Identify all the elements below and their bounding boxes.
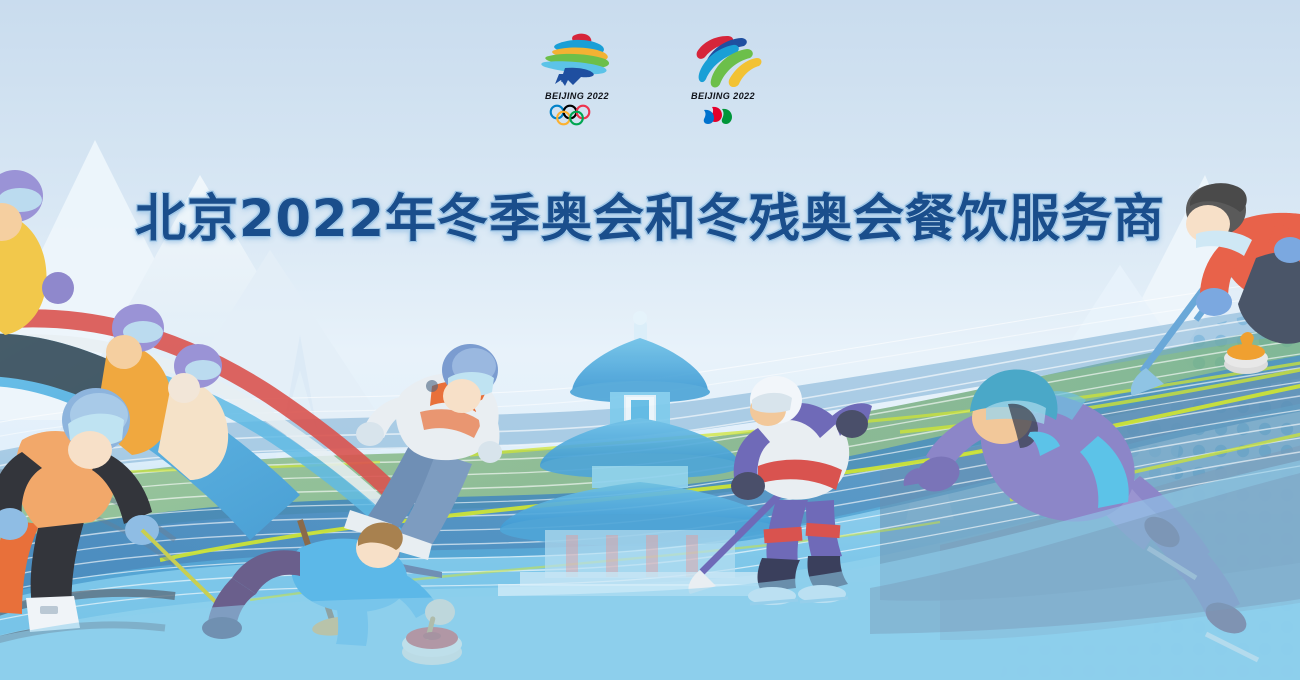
page-title: 北京2022年冬季奥会和冬残奥会餐饮服务商 xyxy=(135,177,1165,251)
olympic-rings-icon xyxy=(544,104,610,126)
emblem-row: BEIJING 2022 BEIJING 2022 xyxy=(0,30,1300,145)
olympic-wordmark: BEIJING 2022 xyxy=(529,91,625,102)
paralympic-wordmark: BEIJING 2022 xyxy=(675,91,771,102)
winter-dream-emblem-icon xyxy=(527,30,627,88)
olympic-banner: BEIJING 2022 BEIJING 2022 xyxy=(0,0,1300,680)
paralympic-agitos-icon xyxy=(696,104,750,126)
title-container: 北京2022年冬季奥会和冬残奥会餐饮服务商 xyxy=(0,143,1300,285)
leap-emblem-icon xyxy=(673,30,773,88)
olympic-emblem: BEIJING 2022 xyxy=(527,30,627,142)
paralympic-emblem: BEIJING 2022 xyxy=(673,30,773,142)
